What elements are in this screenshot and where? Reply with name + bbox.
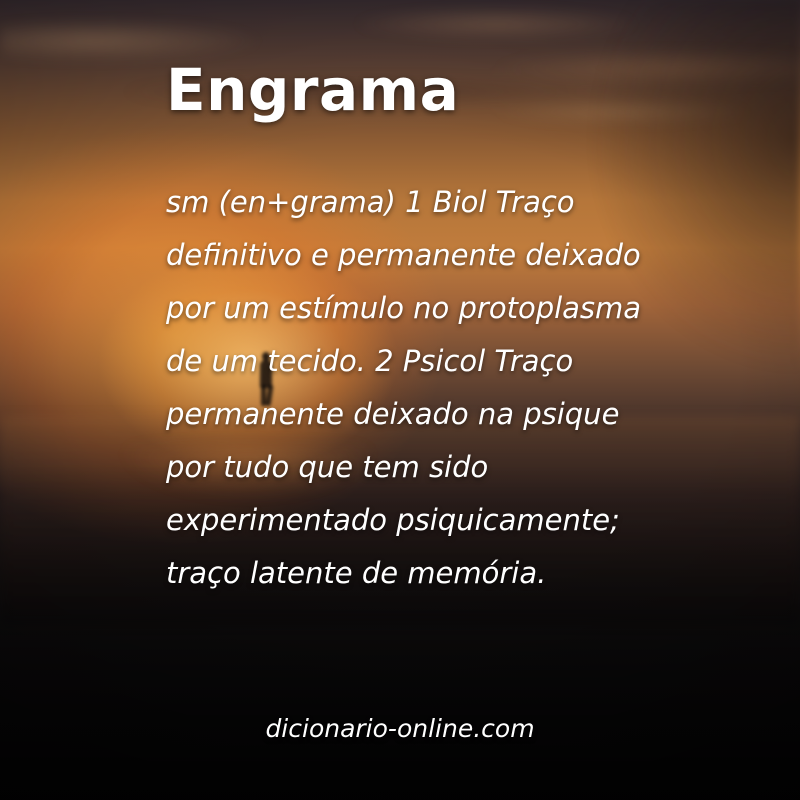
definition-text: sm (en+grama) 1 Biol Traço definitivo e … xyxy=(166,176,656,600)
site-credit: dicionario-online.com xyxy=(0,714,800,743)
headword: Engrama xyxy=(166,56,459,124)
text-layer: Engrama sm (en+grama) 1 Biol Traço defin… xyxy=(0,0,800,800)
definition-card: Engrama sm (en+grama) 1 Biol Traço defin… xyxy=(0,0,800,800)
